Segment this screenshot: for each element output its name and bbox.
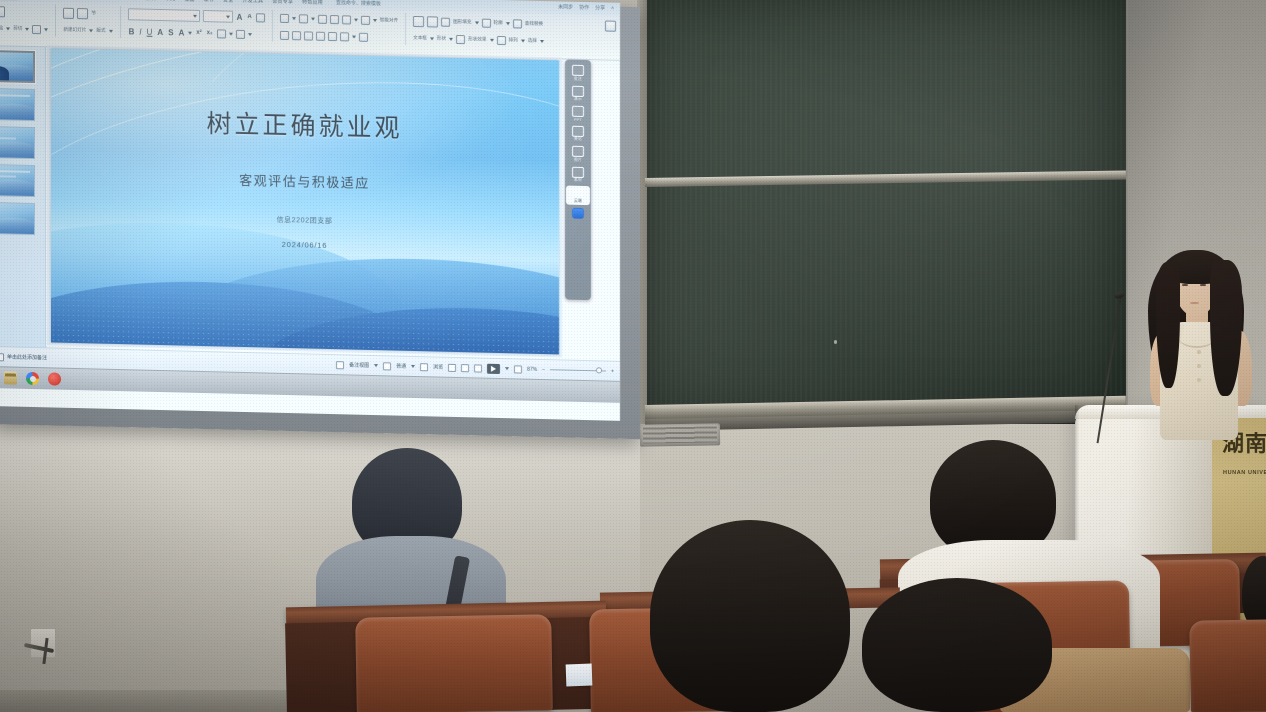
slide-sorter-icon[interactable] — [474, 364, 482, 372]
chevron-down-icon[interactable] — [292, 17, 296, 20]
chevron-down-icon[interactable] — [411, 365, 415, 368]
collaborate-button[interactable]: 协作 — [579, 4, 589, 11]
chevron-down-icon[interactable] — [188, 31, 192, 34]
collapse-ribbon-icon[interactable]: ˄ — [611, 5, 614, 11]
paste-label[interactable]: 粘贴 — [0, 25, 3, 31]
notes-placeholder[interactable]: 单击此处添加备注 — [7, 353, 47, 361]
textbox-label[interactable]: 文本框 — [413, 35, 427, 41]
align-distribute-icon[interactable] — [328, 31, 337, 40]
sidebar-item-ppt[interactable]: PPT — [566, 105, 590, 123]
zoom-level-label[interactable]: 87% — [527, 366, 537, 372]
chevron-down-icon[interactable] — [373, 19, 377, 22]
record-icon[interactable] — [48, 372, 61, 385]
chrome-icon[interactable] — [26, 372, 39, 385]
fit-to-window-icon[interactable] — [514, 365, 522, 373]
presenter-button — [1197, 350, 1201, 354]
align-left-icon[interactable] — [280, 30, 289, 39]
shape-effects-label[interactable]: 形状效果 — [468, 36, 486, 42]
slide-thumbnails-panel[interactable] — [0, 46, 46, 347]
bold-icon[interactable]: B — [128, 27, 136, 36]
sidebar-item-annotate[interactable]: 批注 — [566, 64, 590, 83]
format-painter-icon[interactable] — [32, 24, 41, 33]
text-shadow-icon[interactable]: A — [178, 28, 186, 37]
shape-fill-icon[interactable] — [441, 17, 450, 26]
strikethrough-icon[interactable]: S — [167, 28, 174, 37]
ribbon-group-paragraph[interactable]: 智能对齐 — [280, 10, 398, 46]
chevron-down-icon[interactable] — [352, 35, 356, 38]
slide-editing-area[interactable]: 树立正确就业观 客观评估与积极适应 信息2202团支部 2024/06/16 — [47, 45, 562, 357]
ribbon-group-font[interactable]: A A B I U A S A x² x₂ — [128, 6, 265, 42]
tab-animation[interactable]: 动画 — [126, 0, 136, 1]
clear-format-icon[interactable] — [256, 13, 265, 22]
thumbnail-slide-2[interactable] — [0, 88, 35, 121]
chevron-down-icon[interactable] — [490, 38, 494, 41]
status-right[interactable]: 备注视图 普通 浏览 87% − + — [336, 360, 614, 377]
highlight-icon[interactable] — [236, 29, 245, 38]
blackboard — [640, 0, 1126, 424]
zoom-slider[interactable] — [550, 369, 606, 371]
status-left[interactable]: 单击此处添加备注 — [0, 353, 47, 362]
cloud-icon — [572, 187, 584, 198]
zoom-in-button[interactable]: + — [611, 368, 614, 374]
thumbnail-dune — [0, 217, 35, 235]
student-foreground-head — [650, 520, 850, 712]
new-slide-icon[interactable] — [63, 7, 74, 18]
notes-view-label[interactable]: 备注视图 — [349, 361, 369, 368]
numbering-icon[interactable] — [299, 14, 308, 23]
wall-baseboard — [0, 690, 290, 712]
shape-effects-icon[interactable] — [456, 34, 465, 43]
chevron-down-icon[interactable] — [193, 14, 197, 17]
shapes-icon[interactable] — [427, 16, 438, 27]
zoom-slider-handle[interactable] — [596, 367, 602, 373]
sidebar-label-annotate: 批注 — [574, 76, 582, 81]
paper-on-desk — [566, 664, 593, 687]
browse-view-icon[interactable] — [420, 363, 428, 371]
thumbnail-line — [0, 137, 16, 139]
sidebar-label-image: 图片 — [574, 157, 582, 162]
tab-view[interactable]: 视图 — [184, 0, 194, 3]
sidebar-item-cloud[interactable]: 云端 — [566, 186, 590, 205]
sidebar-label-beautify: 美化 — [574, 137, 582, 142]
chevron-down-icon[interactable] — [430, 37, 434, 40]
sidebar-label-cloud: 云端 — [574, 198, 582, 203]
subscript-icon[interactable]: x₂ — [206, 30, 214, 36]
text-effect-icon[interactable]: A — [156, 27, 164, 36]
current-slide[interactable]: 树立正确就业观 客观评估与积极适应 信息2202团支部 2024/06/16 — [51, 48, 559, 354]
thumbnail-slide-1[interactable] — [0, 50, 35, 83]
font-size-input[interactable] — [203, 10, 233, 23]
shape-outline-icon[interactable] — [482, 18, 491, 27]
thumbnail-slide-4[interactable] — [0, 164, 35, 197]
select-label[interactable]: 选择 — [528, 38, 537, 44]
presenter-eye-left — [1182, 284, 1188, 286]
ribbon-divider — [120, 6, 121, 38]
thumbnail-slide-5[interactable] — [0, 202, 35, 235]
tab-security[interactable]: 安全 — [223, 0, 233, 4]
textbox-icon[interactable] — [413, 15, 424, 26]
right-vertical-toolbar[interactable]: 批注 演示 PPT 美化 图片 素材 — [565, 60, 591, 301]
font-color-icon[interactable] — [217, 29, 226, 38]
tab-transition[interactable]: 切换 — [107, 0, 117, 1]
text-direction-icon[interactable] — [361, 15, 370, 24]
ribbon-group-drawing[interactable]: 图形填充 轮廓 查找替换 文本框 形状 形状效果 — [413, 13, 544, 49]
slide-icon — [572, 106, 584, 117]
thumbnail-dune — [0, 179, 35, 197]
notes-view-icon[interactable] — [336, 361, 344, 369]
tab-developer[interactable]: 开发工具 — [242, 0, 263, 4]
presenter — [1120, 240, 1266, 440]
section-label[interactable]: 节 — [91, 10, 96, 16]
paste-icon[interactable] — [0, 6, 5, 17]
sidebar-item-present[interactable]: 演示 — [566, 84, 590, 103]
ai-sparkle-icon — [572, 207, 584, 218]
chevron-down-icon[interactable] — [109, 29, 113, 32]
blackboard-chalk-mark — [834, 340, 837, 344]
sync-status-label: 未同步 — [558, 3, 573, 10]
chevron-down-icon[interactable] — [25, 27, 29, 30]
reading-view-icon[interactable] — [448, 363, 456, 371]
shapes-label[interactable]: 形状 — [437, 36, 446, 42]
sidebar-item-image[interactable]: 图片 — [566, 145, 590, 164]
presenter-eye-right — [1200, 284, 1206, 286]
indent-icon[interactable] — [330, 15, 339, 24]
university-logo-en: HUNAN UNIVERSITY — [1223, 470, 1266, 476]
chevron-down-icon[interactable] — [248, 33, 252, 36]
thumbnail-line — [0, 170, 30, 173]
normal-view-label[interactable]: 普通 — [396, 363, 406, 370]
underline-icon[interactable]: U — [146, 27, 154, 36]
normal-view-icon[interactable] — [383, 362, 391, 370]
chevron-down-icon[interactable] — [89, 29, 93, 32]
zoom-out-button[interactable]: − — [542, 367, 545, 373]
paragraph-settings-icon[interactable] — [359, 32, 368, 41]
new-slide-label[interactable]: 新建幻灯片 — [63, 27, 86, 34]
tab-slideshow[interactable]: 放映 — [145, 0, 155, 2]
shape-fill-label[interactable]: 图形填充 — [453, 19, 471, 25]
line-spacing-icon[interactable] — [342, 15, 351, 24]
tab-section[interactable]: 章节 — [204, 0, 214, 3]
columns-icon[interactable] — [340, 32, 349, 41]
grow-font-icon[interactable]: A — [236, 12, 244, 21]
chevron-down-icon[interactable] — [475, 21, 479, 24]
classroom-presentation-scene: 文件 开始 插入 设计 切换 动画 放映 审阅 视图 章节 安全 开发工具 会员… — [0, 0, 1266, 712]
chevron-down-icon[interactable] — [226, 15, 230, 18]
presenter-mouth — [1190, 302, 1199, 304]
sidebar-label-assets: 素材 — [574, 178, 582, 183]
chevron-down-icon[interactable] — [354, 18, 358, 21]
smart-align-label[interactable]: 智能对齐 — [380, 17, 398, 23]
folder-icon[interactable] — [4, 371, 17, 384]
ribbon-group-slides[interactable]: 节 新建幻灯片 版式 — [63, 5, 112, 39]
tab-member[interactable]: 会员专享 — [272, 0, 293, 5]
find-replace-label[interactable]: 查找替换 — [525, 21, 543, 27]
presenter-hair-left — [1156, 262, 1180, 388]
chevron-down-icon[interactable] — [449, 37, 453, 40]
chevron-down-icon[interactable] — [44, 28, 48, 31]
chevron-down-icon[interactable] — [229, 32, 233, 35]
superscript-icon[interactable]: x² — [195, 30, 202, 36]
share-button[interactable]: 分享 — [595, 4, 605, 11]
ribbon-right-actions[interactable]: 未同步 协作 分享 ˄ — [558, 3, 614, 11]
align-justify-icon[interactable] — [316, 31, 325, 40]
find-replace-icon[interactable] — [513, 19, 522, 28]
browse-view-label[interactable]: 浏览 — [433, 363, 443, 370]
shape-outline-label[interactable]: 轮廓 — [494, 20, 503, 26]
ribbon-divider — [405, 13, 406, 45]
present-icon — [572, 85, 584, 96]
chevron-down-icon[interactable] — [6, 27, 10, 30]
shrink-font-icon[interactable]: A — [246, 14, 252, 20]
chevron-down-icon[interactable] — [540, 39, 544, 42]
projected-computer-screen[interactable]: 文件 开始 插入 设计 切换 动画 放映 审阅 视图 章节 安全 开发工具 会员… — [0, 0, 620, 421]
outdent-icon[interactable] — [318, 14, 327, 23]
italic-icon[interactable]: I — [138, 27, 142, 36]
layout-icon[interactable] — [77, 8, 88, 19]
tab-design[interactable]: 设计 — [87, 0, 97, 1]
chevron-down-icon[interactable] — [521, 39, 525, 42]
select-icon[interactable] — [605, 20, 616, 31]
tab-review[interactable]: 审阅 — [165, 0, 175, 2]
ribbon-divider — [55, 5, 56, 37]
sidebar-item-ai[interactable] — [566, 206, 590, 220]
align-center-icon[interactable] — [292, 31, 301, 40]
sidebar-item-assets[interactable]: 素材 — [566, 165, 590, 184]
chevron-down-icon[interactable] — [506, 22, 510, 25]
master-view-icon[interactable] — [461, 364, 469, 372]
sidebar-label-ppt: PPT — [574, 117, 582, 121]
thumbnail-dune — [0, 141, 35, 159]
sidebar-label-present: 演示 — [574, 97, 582, 102]
ribbon-divider — [272, 10, 273, 42]
ribbon-group-clipboard[interactable]: 粘贴 剪切 — [0, 3, 48, 37]
image-icon — [572, 146, 584, 157]
ribbon-group-select[interactable] — [605, 17, 616, 33]
presenter-button — [1197, 378, 1201, 382]
wall-vent — [640, 423, 720, 446]
beautify-icon — [572, 125, 584, 136]
thumbnail-line — [0, 175, 16, 177]
bullets-icon[interactable] — [280, 13, 289, 22]
thumbnail-line — [0, 94, 30, 97]
seat-bottom-right — [1189, 619, 1266, 712]
notes-icon[interactable] — [0, 353, 4, 361]
font-name-input[interactable] — [128, 8, 200, 22]
cut-label[interactable]: 剪切 — [13, 26, 22, 32]
ribbon-search-box[interactable]: 查找命令、搜索模板 — [336, 0, 381, 7]
assets-icon — [572, 166, 584, 177]
tab-featured-apps[interactable]: 特色应用 — [302, 0, 323, 6]
thumbnail-dune — [0, 103, 35, 121]
chevron-down-icon[interactable] — [311, 17, 315, 20]
arrange-icon[interactable] — [497, 35, 506, 44]
start-slideshow-button[interactable] — [487, 363, 500, 373]
slide-dot-pattern — [51, 262, 559, 354]
presenter-button — [1197, 364, 1201, 368]
thumbnail-slide-3[interactable] — [0, 126, 35, 159]
chevron-down-icon[interactable] — [374, 364, 378, 367]
pen-icon — [572, 65, 584, 76]
seat-front-left — [355, 614, 553, 712]
student-bottom-right-head — [862, 578, 1052, 712]
sidebar-item-beautify[interactable]: 美化 — [566, 124, 590, 143]
arrange-label[interactable]: 排列 — [509, 37, 518, 43]
align-right-icon[interactable] — [304, 31, 313, 40]
chevron-down-icon[interactable] — [505, 367, 509, 370]
layout-label[interactable]: 版式 — [96, 28, 105, 34]
